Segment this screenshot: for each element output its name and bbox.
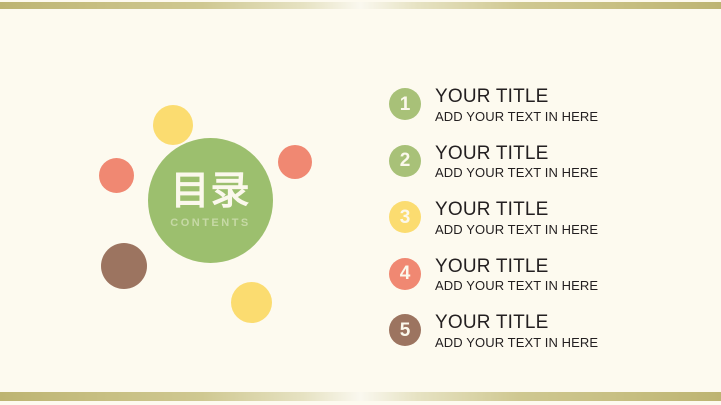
- list-item-title: YOUR TITLE: [435, 256, 598, 278]
- list-item-title: YOUR TITLE: [435, 312, 598, 334]
- list-item-number: 5: [400, 321, 411, 340]
- decor-dot-yellow-bottom: [231, 282, 272, 323]
- decor-dot-brown-lower-left: [101, 243, 147, 289]
- list-item[interactable]: 1 YOUR TITLE ADD YOUR TEXT IN HERE: [389, 88, 689, 145]
- list-item-subtitle: ADD YOUR TEXT IN HERE: [435, 278, 598, 294]
- list-item-title: YOUR TITLE: [435, 86, 598, 108]
- contents-hero-circle: 目录 CONTENTS: [148, 138, 273, 263]
- list-item-number-badge: 4: [389, 258, 421, 290]
- list-item-subtitle: ADD YOUR TEXT IN HERE: [435, 335, 598, 351]
- list-item-subtitle: ADD YOUR TEXT IN HERE: [435, 109, 598, 125]
- decor-dot-salmon-left: [99, 158, 134, 193]
- hero-circle-cluster: 目录 CONTENTS: [0, 0, 360, 405]
- list-item-number: 3: [400, 208, 411, 227]
- decor-dot-yellow-top: [153, 105, 193, 145]
- list-item-text: YOUR TITLE ADD YOUR TEXT IN HERE: [435, 312, 598, 350]
- list-item-number: 2: [400, 151, 411, 170]
- slide-canvas: 目录 CONTENTS 1 YOUR TITLE ADD YOUR TEXT I…: [0, 0, 721, 405]
- list-item-subtitle: ADD YOUR TEXT IN HERE: [435, 222, 598, 238]
- list-item-number-badge: 3: [389, 201, 421, 233]
- list-item-text: YOUR TITLE ADD YOUR TEXT IN HERE: [435, 86, 598, 124]
- list-item[interactable]: 3 YOUR TITLE ADD YOUR TEXT IN HERE: [389, 201, 689, 258]
- list-item-number: 1: [400, 95, 411, 114]
- list-item-text: YOUR TITLE ADD YOUR TEXT IN HERE: [435, 256, 598, 294]
- list-item[interactable]: 4 YOUR TITLE ADD YOUR TEXT IN HERE: [389, 258, 689, 315]
- agenda-list: 1 YOUR TITLE ADD YOUR TEXT IN HERE 2 YOU…: [389, 88, 689, 371]
- hero-title-cn: 目录: [170, 172, 250, 211]
- list-item-number-badge: 1: [389, 88, 421, 120]
- list-item-title: YOUR TITLE: [435, 143, 598, 165]
- list-item-subtitle: ADD YOUR TEXT IN HERE: [435, 165, 598, 181]
- list-item-title: YOUR TITLE: [435, 199, 598, 221]
- list-item-number: 4: [400, 264, 411, 283]
- decor-dot-salmon-right: [278, 145, 312, 179]
- list-item[interactable]: 2 YOUR TITLE ADD YOUR TEXT IN HERE: [389, 145, 689, 202]
- hero-subtitle-en: CONTENTS: [170, 218, 251, 229]
- list-item-text: YOUR TITLE ADD YOUR TEXT IN HERE: [435, 143, 598, 181]
- list-item[interactable]: 5 YOUR TITLE ADD YOUR TEXT IN HERE: [389, 314, 689, 371]
- list-item-number-badge: 2: [389, 145, 421, 177]
- list-item-text: YOUR TITLE ADD YOUR TEXT IN HERE: [435, 199, 598, 237]
- list-item-number-badge: 5: [389, 314, 421, 346]
